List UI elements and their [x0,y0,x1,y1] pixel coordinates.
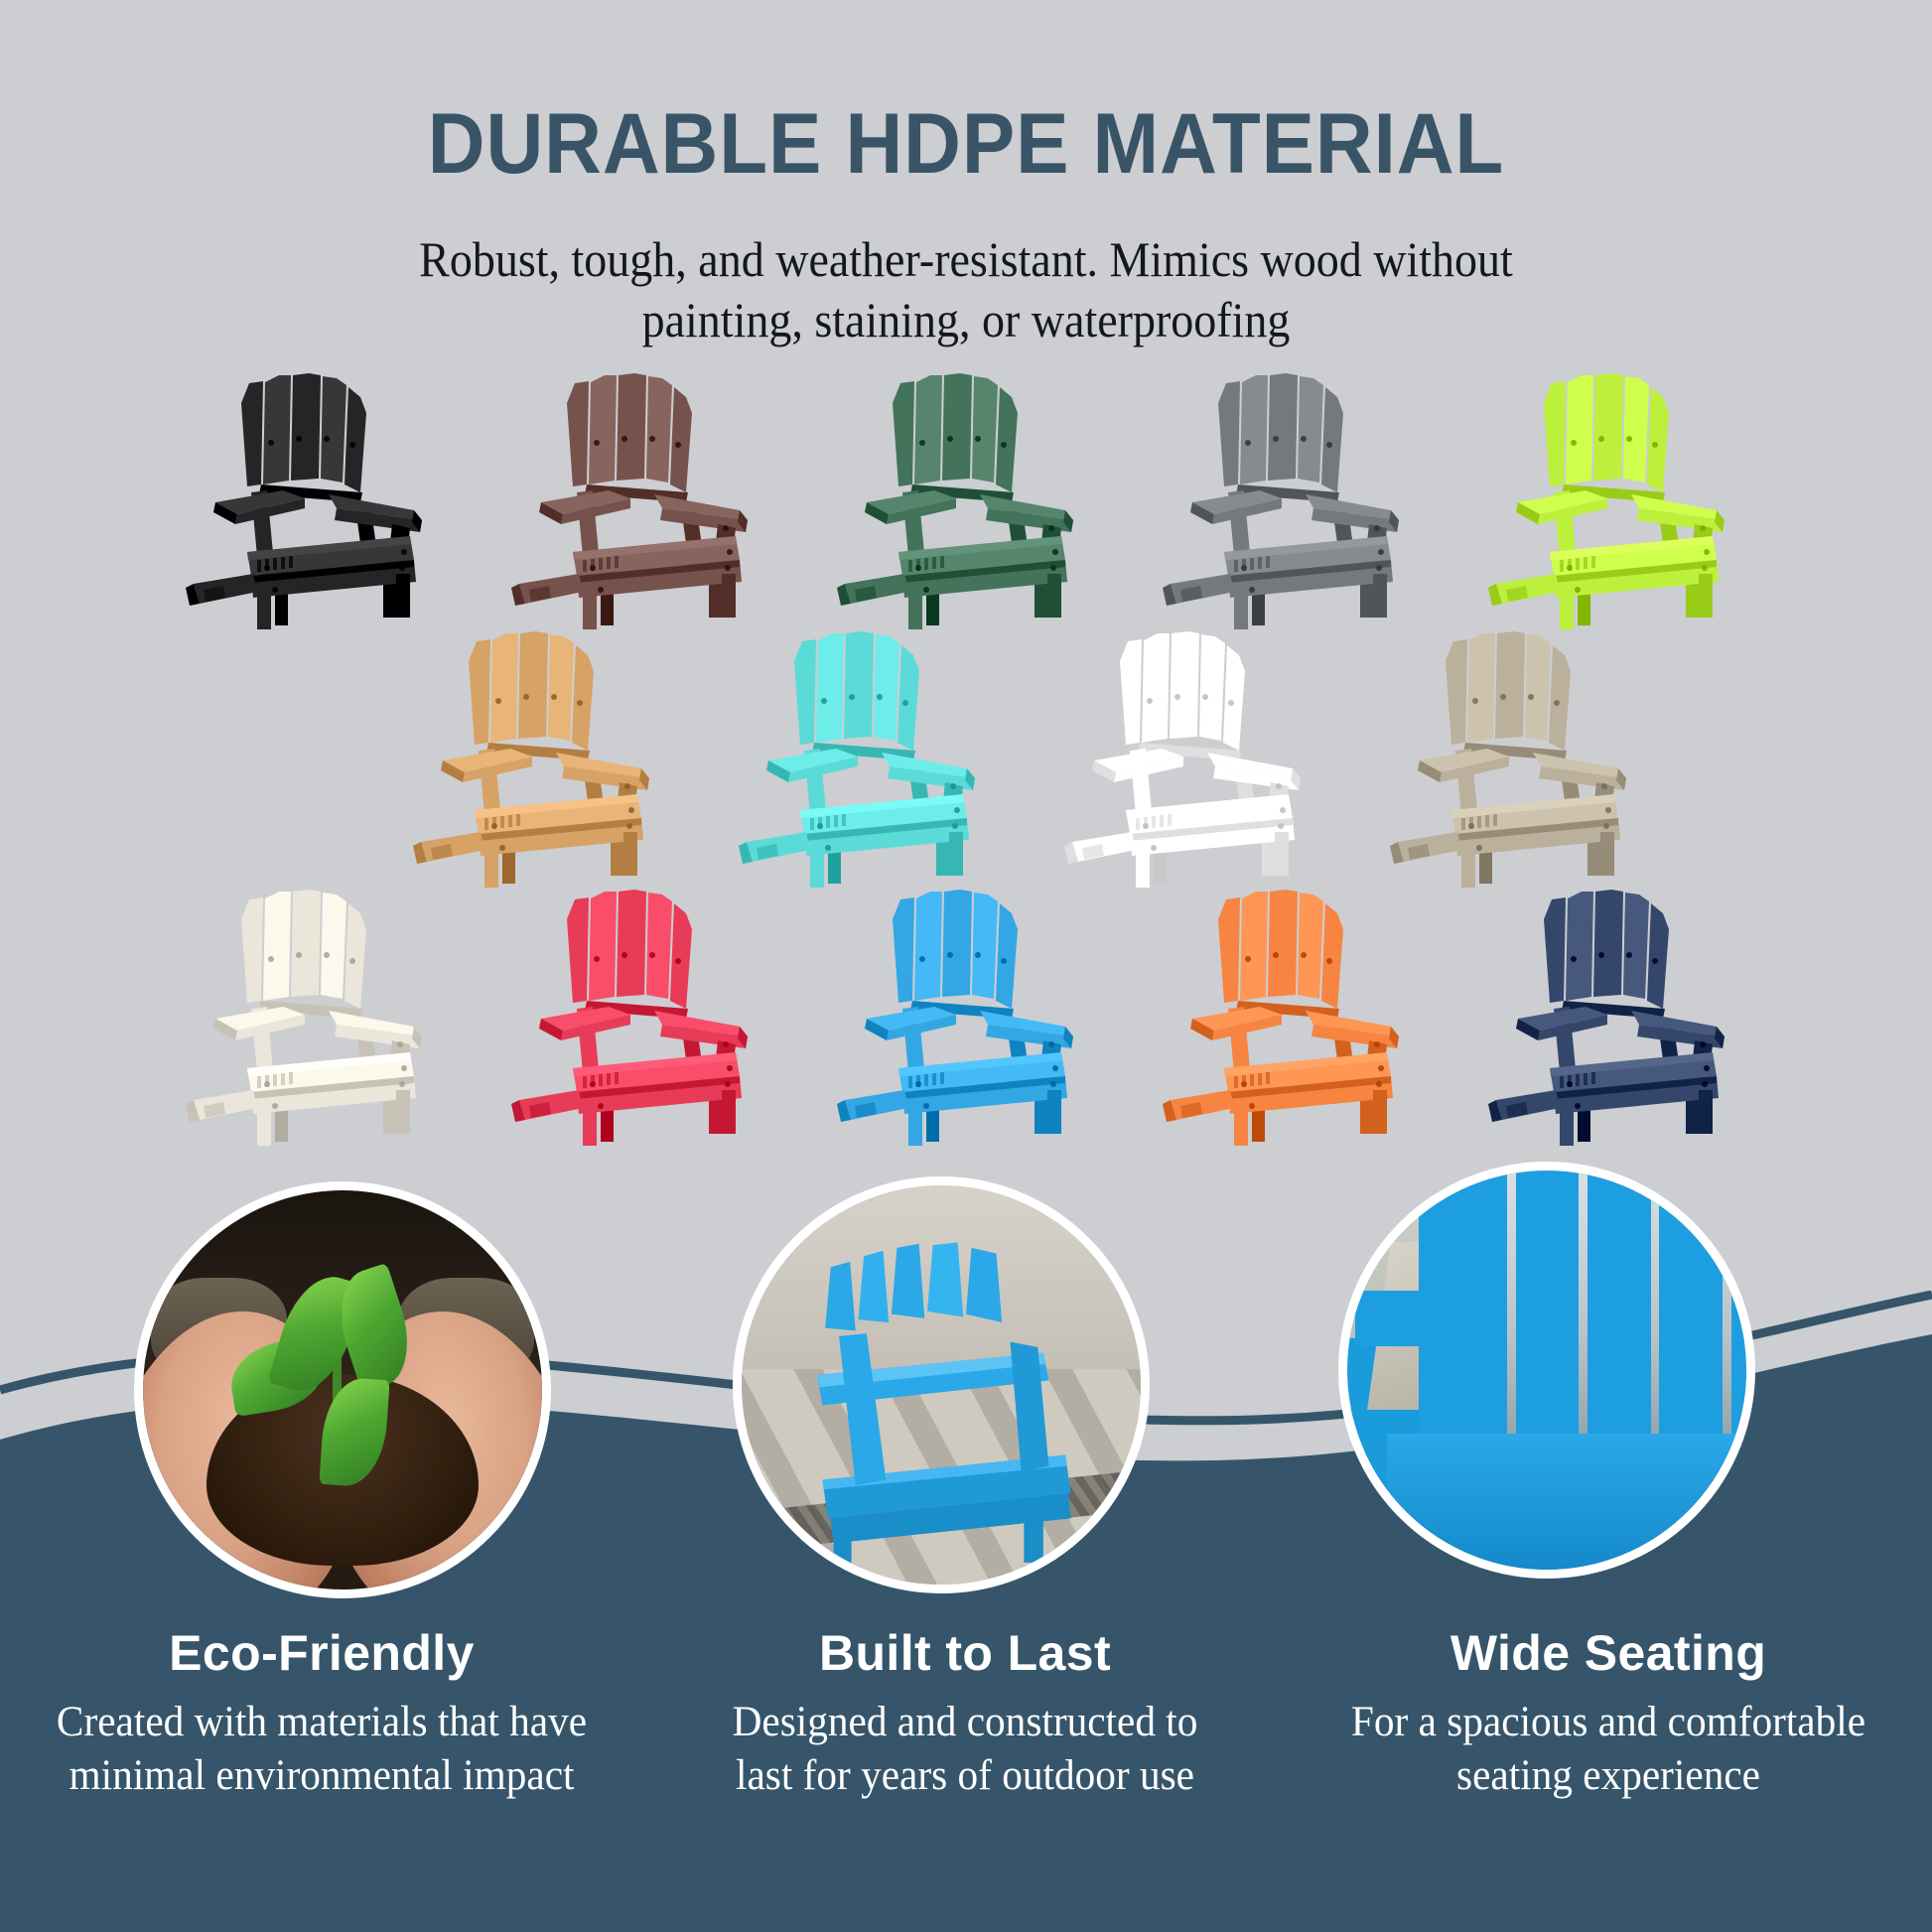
feature-image-eco-friendly [134,1181,551,1598]
chair-white [1058,627,1328,892]
patio-chair-illustration [750,1209,1133,1577]
feature-heading: Eco-Friendly [22,1624,621,1682]
hands-holding-soil-with-seedling-icon [143,1190,542,1589]
chair-dark-brown [505,369,775,633]
feature-heading: Built to Last [665,1624,1265,1682]
page-subtitle: Robust, tough, and weather-resistant. Mi… [77,229,1855,350]
chair-swatch-black [180,369,450,633]
feature-circles [0,1181,1932,1598]
feature-body: Designed and constructed to last for yea… [677,1696,1253,1803]
subtitle-line-2: painting, staining, or waterproofing [77,290,1855,350]
feature-heading: Wide Seating [1309,1624,1908,1682]
chair-blue [831,886,1101,1150]
feature-body-line-2: last for years of outdoor use [736,1752,1194,1799]
feature-body-line-2: minimal environmental impact [69,1752,574,1799]
feature-body-line-1: Designed and constructed to [733,1699,1198,1745]
chair-orange [1157,886,1427,1150]
chair-swatch-weathered-wood [1384,627,1654,892]
chair-swatch-navy-blue [1482,886,1752,1150]
chair-turquoise [733,627,1003,892]
feature-body: For a spacious and comfortable seating e… [1320,1696,1896,1803]
feature-caption-wide-seating: Wide Seating For a spacious and comforta… [1287,1624,1930,1803]
chair-ivory [180,886,450,1150]
page-title: DURABLE HDPE MATERIAL [68,95,1864,194]
subtitle-line-1: Robust, tough, and weather-resistant. Mi… [77,229,1855,290]
chair-swatch-teak [407,627,677,892]
header: DURABLE HDPE MATERIAL Robust, tough, and… [0,0,1932,350]
chair-row-2 [0,627,1932,892]
feature-body-line-1: For a spacious and comfortable [1351,1699,1865,1745]
feature-captions: Eco-Friendly Created with materials that… [0,1624,1932,1803]
blue-adirondack-chair-on-patio-icon [742,1185,1141,1585]
chair-navy-blue [1482,886,1752,1150]
chair-swatch-gray [1157,369,1427,633]
chair-teak [407,627,677,892]
chair-black [180,369,450,633]
chair-swatch-ivory [180,886,450,1150]
chair-red [505,886,775,1150]
chair-row-1 [0,369,1932,633]
chair-swatch-dark-brown [505,369,775,633]
chair-weathered-wood [1384,627,1654,892]
chair-swatch-orange [1157,886,1427,1150]
chair-gray [1157,369,1427,633]
feature-image-built-to-last [733,1176,1150,1593]
chair-swatch-dark-green [831,369,1101,633]
feature-caption-eco-friendly: Eco-Friendly Created with materials that… [0,1624,643,1803]
feature-image-wide-seating [1338,1162,1755,1579]
feature-caption-built-to-last: Built to Last Designed and constructed t… [643,1624,1287,1803]
chair-lime-green [1482,369,1752,633]
chair-swatch-white [1058,627,1328,892]
closeup-blue-chair-wide-seat-icon [1347,1171,1746,1570]
chair-dark-green [831,369,1101,633]
chair-color-grid [0,369,1932,1150]
feature-body-line-2: seating experience [1456,1752,1760,1799]
chair-swatch-lime-green [1482,369,1752,633]
chair-swatch-red [505,886,775,1150]
chair-swatch-turquoise [733,627,1003,892]
feature-body: Created with materials that have minimal… [34,1696,610,1803]
feature-body-line-1: Created with materials that have [57,1699,587,1745]
chair-swatch-blue [831,886,1101,1150]
chair-row-3 [0,886,1932,1150]
